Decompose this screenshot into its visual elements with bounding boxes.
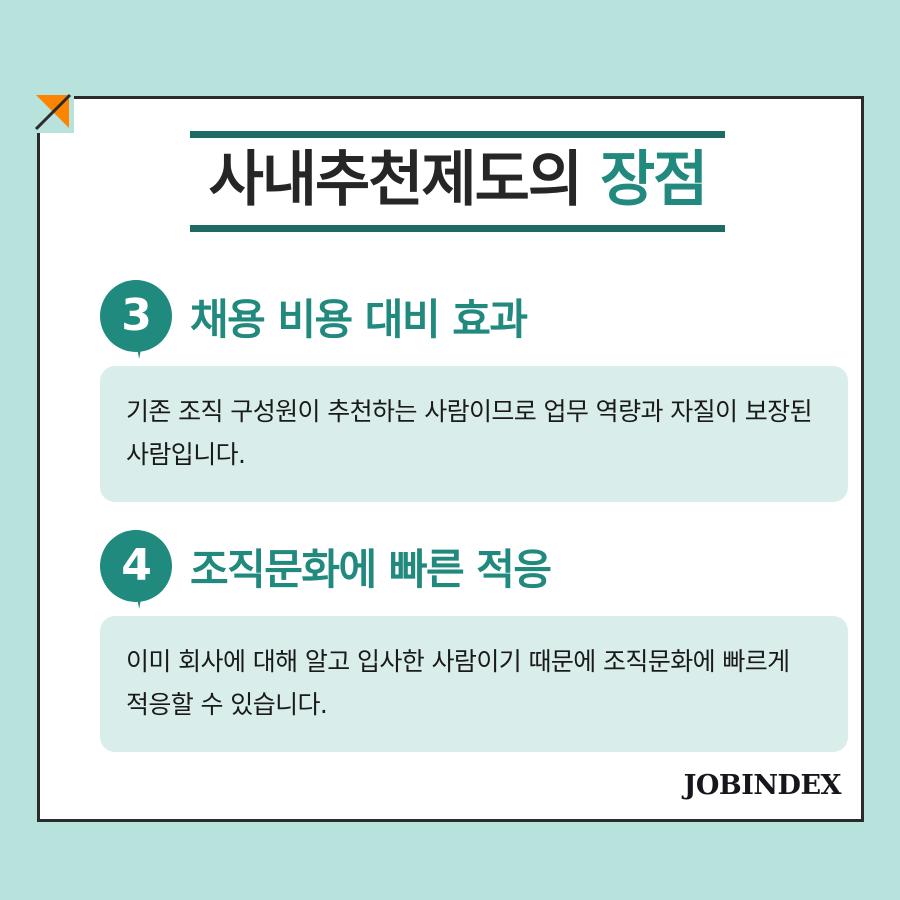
page-title: 사내추천제도의 장점	[190, 138, 725, 225]
number-badge-circle: 4	[100, 530, 172, 602]
benefit-item-3-body-text: 기존 조직 구성원이 추천하는 사람이므로 업무 역량과 자질이 보장된 사람입…	[126, 390, 822, 476]
brand-logo: JOBINDEX	[684, 770, 841, 801]
benefit-item-3-heading: 채용 비용 대비 효과	[190, 286, 527, 347]
title-rule-bottom	[190, 225, 725, 232]
benefit-item-4-head: 4 조직문화에 빠른 적응	[100, 527, 850, 605]
page-title-main: 사내추천제도의	[209, 145, 581, 215]
benefit-item-4-body-text: 이미 회사에 대해 알고 입사한 사람이기 때문에 조직문화에 빠르게 적응할 …	[126, 640, 822, 726]
number-badge-circle: 3	[100, 280, 172, 352]
number-badge-3: 3	[100, 280, 172, 352]
title-rule-top	[190, 131, 725, 138]
benefit-item-4-heading: 조직문화에 빠른 적응	[190, 536, 551, 597]
benefit-item-3-head: 3 채용 비용 대비 효과	[100, 277, 850, 355]
benefit-item-4-body-box: 이미 회사에 대해 알고 입사한 사람이기 때문에 조직문화에 빠르게 적응할 …	[100, 616, 848, 752]
title-block: 사내추천제도의 장점	[190, 131, 725, 232]
number-badge-4: 4	[100, 530, 172, 602]
benefit-item-3: 3 채용 비용 대비 효과 기존 조직 구성원이 추천하는 사람이므로 업무 역…	[100, 277, 850, 502]
folded-corner-triangle-icon	[36, 95, 69, 128]
page-title-accent: 장점	[600, 145, 706, 215]
benefit-item-4: 4 조직문화에 빠른 적응 이미 회사에 대해 알고 입사한 사람이기 때문에 …	[100, 527, 850, 752]
benefit-item-3-body-box: 기존 조직 구성원이 추천하는 사람이므로 업무 역량과 자질이 보장된 사람입…	[100, 366, 848, 502]
number-badge-label: 4	[121, 544, 151, 588]
info-card: 사내추천제도의 장점 3 채용 비용 대비 효과 기존 조직 구성원이 추천하는…	[37, 96, 864, 822]
number-badge-label: 3	[121, 294, 151, 338]
